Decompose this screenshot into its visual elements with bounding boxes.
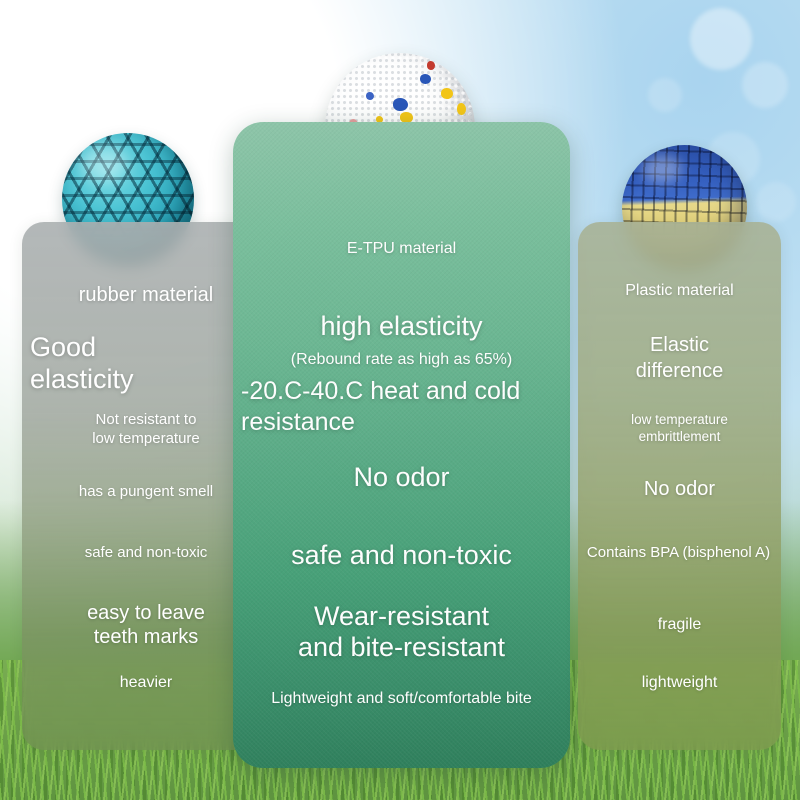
bokeh-circle xyxy=(690,8,752,70)
etpu-elasticity: high elasticity xyxy=(233,311,570,342)
bokeh-circle xyxy=(742,62,788,108)
plastic-toxicity: Contains BPA (bisphenol A) xyxy=(566,544,791,561)
etpu-temperature-line1: -20.C-40.C heat and cold xyxy=(233,377,570,406)
ball-speck xyxy=(420,74,431,84)
plastic-weight: lightweight xyxy=(578,674,781,693)
ball-speck xyxy=(427,61,435,70)
plastic-durability: fragile xyxy=(578,616,781,635)
etpu-toxicity: safe and non-toxic xyxy=(233,540,570,571)
etpu-weight: Lightweight and soft/comfortable bite xyxy=(233,690,570,709)
ball-speck xyxy=(400,112,413,123)
etpu-durability-line2: and bite-resistant xyxy=(233,632,570,663)
plastic-temperature-line2: embrittlement xyxy=(578,429,781,445)
etpu-temperature-line2: resistance xyxy=(233,408,570,437)
ball-speck xyxy=(457,103,466,115)
etpu-odor: No odor xyxy=(233,462,570,493)
etpu-heading: E-TPU material xyxy=(233,240,570,259)
plastic-temperature-line1: low temperature xyxy=(578,412,781,428)
plastic-material-panel: Plastic material Elastic difference low … xyxy=(578,222,781,750)
plastic-elasticity-line1: Elastic xyxy=(578,334,781,357)
comparison-infographic: rubber material Good elasticity Not resi… xyxy=(0,0,800,800)
bokeh-circle xyxy=(756,182,796,222)
plastic-odor: No odor xyxy=(578,478,781,501)
etpu-material-panel: E-TPU material high elasticity (Rebound … xyxy=(233,122,570,768)
ball-speck xyxy=(441,88,453,99)
ball-speck xyxy=(366,92,374,100)
etpu-durability-line1: Wear-resistant xyxy=(233,601,570,632)
plastic-heading: Plastic material xyxy=(578,282,781,301)
etpu-elasticity-note: (Rebound rate as high as 65%) xyxy=(233,351,570,370)
bokeh-circle xyxy=(648,78,682,112)
plastic-elasticity-line2: difference xyxy=(578,360,781,383)
ball-speck xyxy=(393,98,408,111)
